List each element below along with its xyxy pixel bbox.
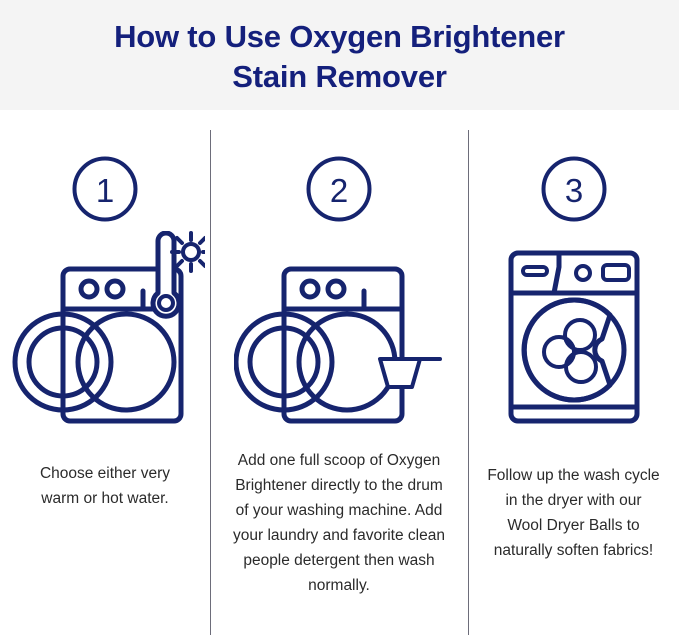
washing-machine-scoop-icon	[234, 231, 444, 431]
dryer-ball-top	[565, 320, 595, 350]
header-band: How to Use Oxygen Brightener Stain Remov…	[0, 0, 679, 110]
step-number-badge-3: 3	[540, 155, 608, 223]
column-divider-2	[468, 130, 469, 635]
dryer-display	[603, 265, 629, 280]
dryer-drum-inner	[524, 300, 610, 400]
dryer-ball-bottom	[566, 352, 596, 382]
dryer-slot-left	[523, 267, 547, 275]
step-number-badge-2: 2	[305, 155, 373, 223]
washer-knob-left	[81, 281, 97, 297]
dryer-ball-left	[544, 337, 574, 367]
thermometer-icon	[153, 233, 179, 316]
wool-dryer-balls	[544, 320, 596, 382]
step-panel-1: 1	[0, 110, 210, 643]
infographic-root: How to Use Oxygen Brightener Stain Remov…	[0, 0, 679, 643]
steps-container: 1	[0, 110, 679, 643]
step-panel-2: 2 Add one full s	[210, 110, 468, 643]
step-caption-1: Choose either very warm or hot water.	[15, 461, 195, 511]
step-number-label-2: 2	[330, 172, 348, 209]
measuring-scoop-icon	[380, 359, 440, 387]
washer-knob-right	[107, 281, 123, 297]
step-panel-3: 3	[468, 110, 679, 643]
step-caption-3: Follow up the wash cycle in the dryer wi…	[474, 463, 674, 563]
page-title: How to Use Oxygen Brightener Stain Remov…	[114, 17, 565, 97]
dryer-knob	[576, 266, 590, 280]
dryer-with-dryer-balls-icon	[499, 231, 649, 431]
step-number-label-3: 3	[564, 172, 582, 209]
step-number-badge-1: 1	[71, 155, 139, 223]
washer-drum	[78, 314, 174, 410]
step-caption-2: Add one full scoop of Oxygen Brightener …	[219, 448, 459, 598]
sun-icon	[172, 233, 205, 271]
washer-knob-left	[302, 281, 318, 297]
column-divider-1	[210, 130, 211, 635]
washer-knob-right	[328, 281, 344, 297]
step-number-label-1: 1	[96, 172, 114, 209]
washing-machine-thermometer-sun-icon	[5, 231, 205, 431]
